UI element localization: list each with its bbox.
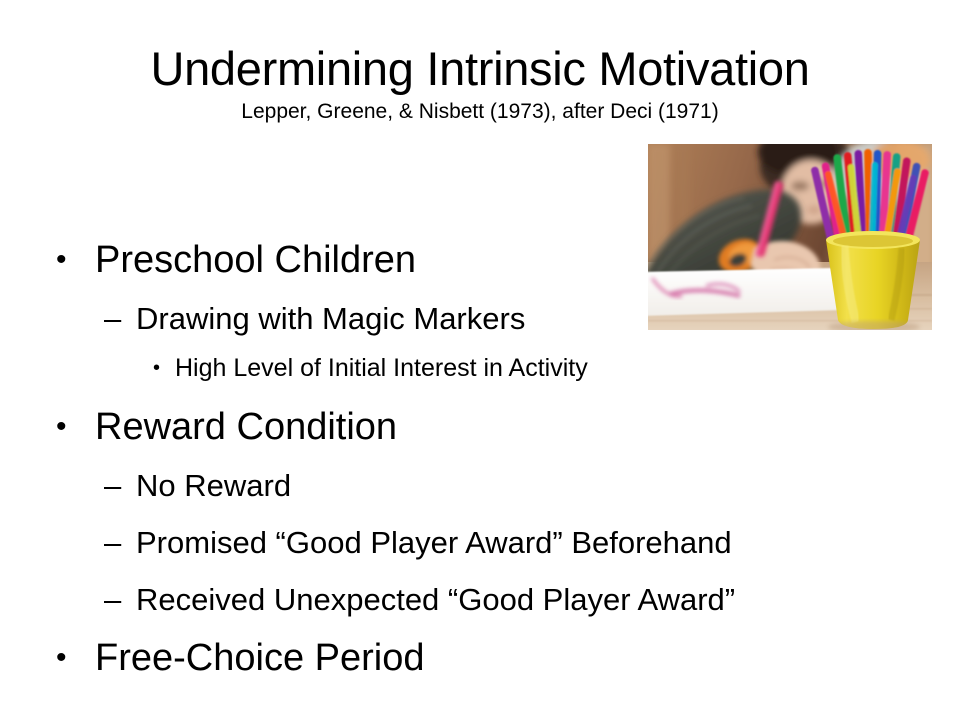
bullet-marker: –	[104, 573, 121, 626]
bullet-text: Received Unexpected “Good Player Award”	[136, 573, 735, 626]
bullet-item-drawing-with-magic-markers: – Drawing with Magic Markers	[0, 292, 960, 345]
bullet-marker: •	[153, 345, 160, 391]
bullet-text: Preschool Children	[95, 232, 416, 288]
bullet-marker: •	[56, 232, 67, 288]
bullet-text: Free-Choice Period	[95, 630, 424, 686]
bullet-item-no-reward: – No Reward	[0, 459, 960, 512]
bullet-text: Promised “Good Player Award” Beforehand	[136, 516, 732, 569]
bullet-item-free-choice-period: • Free-Choice Period	[0, 630, 960, 686]
page-title: Undermining Intrinsic Motivation	[0, 44, 960, 95]
bullet-item-preschool-children: • Preschool Children	[0, 232, 960, 288]
bullet-marker: –	[104, 516, 121, 569]
bullet-marker: –	[104, 459, 121, 512]
bullet-marker: –	[104, 292, 121, 345]
bullet-text: Reward Condition	[95, 399, 397, 455]
title-block: Undermining Intrinsic Motivation Lepper,…	[0, 44, 960, 124]
bullet-item-received-unexpected-good-player-award: – Received Unexpected “Good Player Award…	[0, 573, 960, 626]
slide-canvas: Undermining Intrinsic Motivation Lepper,…	[0, 0, 960, 720]
bullet-item-promised-good-player-award: – Promised “Good Player Award” Beforehan…	[0, 516, 960, 569]
spacer	[0, 391, 960, 399]
bullet-item-reward-condition: • Reward Condition	[0, 399, 960, 455]
bullet-text: No Reward	[136, 459, 291, 512]
page-subtitle: Lepper, Greene, & Nisbett (1973), after …	[0, 99, 960, 124]
bullet-marker: •	[56, 630, 67, 686]
bullet-text: High Level of Initial Interest in Activi…	[175, 345, 588, 391]
bullet-marker: •	[56, 399, 67, 455]
bullet-item-high-level-of-initial-interest: • High Level of Initial Interest in Acti…	[0, 345, 960, 391]
bullet-text: Drawing with Magic Markers	[136, 292, 525, 345]
bullet-list: • Preschool Children – Drawing with Magi…	[0, 232, 960, 686]
